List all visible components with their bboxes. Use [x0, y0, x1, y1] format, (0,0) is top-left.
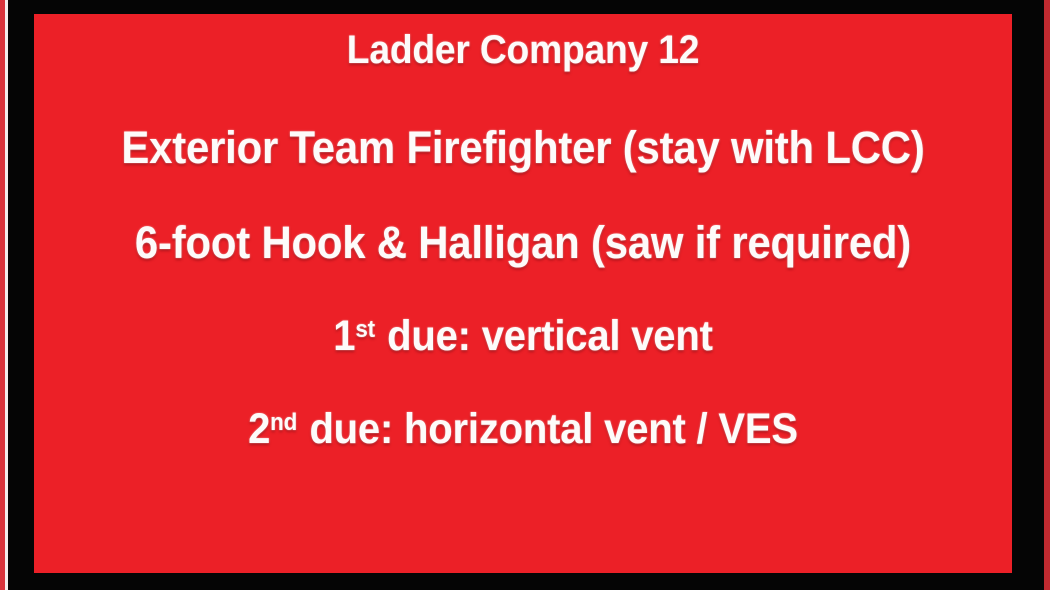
second-due-ordinal-suffix: nd — [270, 409, 298, 436]
slide-red-panel: Ladder Company 12 Exterior Team Firefigh… — [34, 14, 1012, 573]
slide-line-first-due: 1st due: vertical vent — [68, 315, 978, 358]
slide-text-block: Ladder Company 12 Exterior Team Firefigh… — [34, 30, 1012, 451]
first-due-ordinal-number: 1 — [333, 312, 355, 360]
slide-line-tools: 6-foot Hook & Halligan (saw if required) — [68, 220, 978, 265]
first-due-text: due: vertical vent — [376, 312, 713, 360]
slide-root: Ladder Company 12 Exterior Team Firefigh… — [0, 0, 1050, 590]
second-due-ordinal-number: 2 — [248, 405, 270, 453]
slide-title: Ladder Company 12 — [68, 30, 978, 70]
slide-line-assignment: Exterior Team Firefighter (stay with LCC… — [68, 125, 978, 170]
second-due-text: due: horizontal vent / VES — [299, 405, 798, 453]
edge-sliver-right — [1044, 0, 1050, 590]
slide-black-frame: Ladder Company 12 Exterior Team Firefigh… — [8, 0, 1044, 590]
slide-line-second-due: 2nd due: horizontal vent / VES — [68, 408, 978, 451]
first-due-ordinal-suffix: st — [355, 316, 376, 343]
